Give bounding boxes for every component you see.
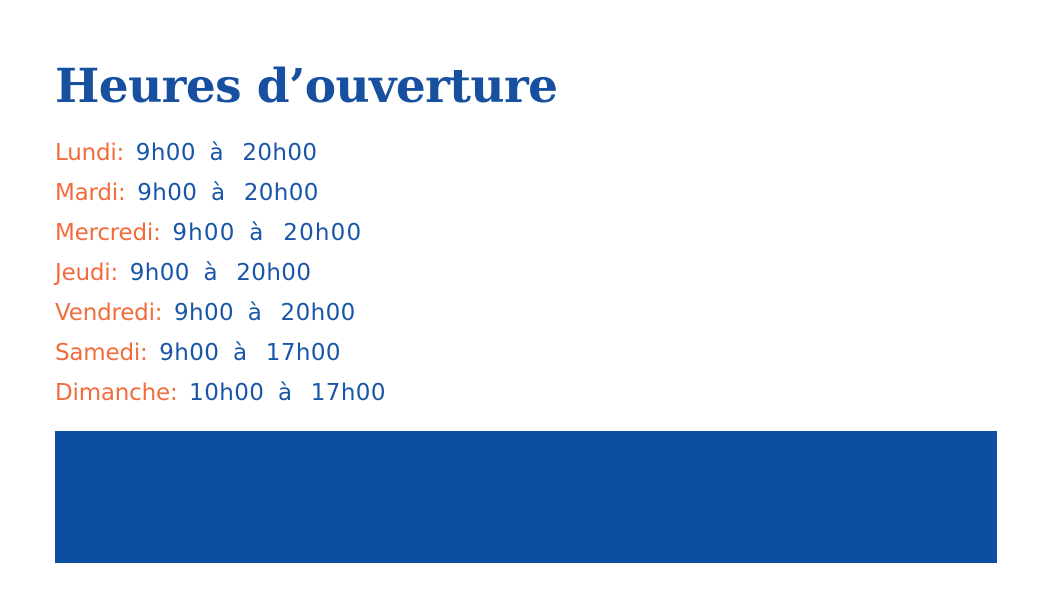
opening-time: 9h00 — [136, 140, 196, 166]
opening-time: 9h00 — [137, 180, 197, 206]
list-item: Jeudi: 9h00 à 20h00 — [55, 253, 755, 293]
time-separator: à — [278, 380, 292, 406]
closing-time: 17h00 — [266, 340, 341, 366]
time-separator: à — [248, 300, 262, 326]
opening-time: 9h00 — [174, 300, 234, 326]
time-separator: à — [211, 180, 225, 206]
day-label: Lundi: — [55, 140, 124, 166]
day-label: Mercredi: — [55, 220, 161, 246]
day-label: Mardi: — [55, 180, 126, 206]
list-item: Samedi: 9h00 à 17h00 — [55, 333, 755, 373]
list-item: Mercredi: 9h00 à 20h00 — [55, 213, 755, 253]
closing-time: 20h00 — [283, 220, 362, 246]
time-separator: à — [210, 140, 224, 166]
list-item: Lundi: 9h00 à 20h00 — [55, 133, 755, 173]
closing-time: 17h00 — [311, 380, 386, 406]
list-item: Mardi: 9h00 à 20h00 — [55, 173, 755, 213]
slide-canvas: Heures d’ouverture Lundi: 9h00 à 20h00 M… — [0, 0, 1050, 600]
time-separator: à — [249, 220, 264, 246]
closing-time: 20h00 — [236, 260, 311, 286]
opening-time: 9h00 — [159, 340, 219, 366]
opening-time: 9h00 — [130, 260, 190, 286]
time-separator: à — [203, 260, 217, 286]
list-item: Dimanche: 10h00 à 17h00 — [55, 373, 755, 413]
day-label: Jeudi: — [55, 260, 118, 286]
opening-time: 9h00 — [172, 220, 235, 246]
closing-time: 20h00 — [244, 180, 319, 206]
closing-time: 20h00 — [242, 140, 317, 166]
page-title: Heures d’ouverture — [55, 59, 557, 115]
day-label: Vendredi: — [55, 300, 162, 326]
time-separator: à — [233, 340, 247, 366]
blue-banner-block — [55, 431, 997, 563]
opening-hours-list: Lundi: 9h00 à 20h00 Mardi: 9h00 à 20h00 … — [55, 133, 755, 413]
day-label: Dimanche: — [55, 380, 178, 406]
day-label: Samedi: — [55, 340, 148, 366]
opening-time: 10h00 — [189, 380, 264, 406]
closing-time: 20h00 — [281, 300, 356, 326]
list-item: Vendredi: 9h00 à 20h00 — [55, 293, 755, 333]
